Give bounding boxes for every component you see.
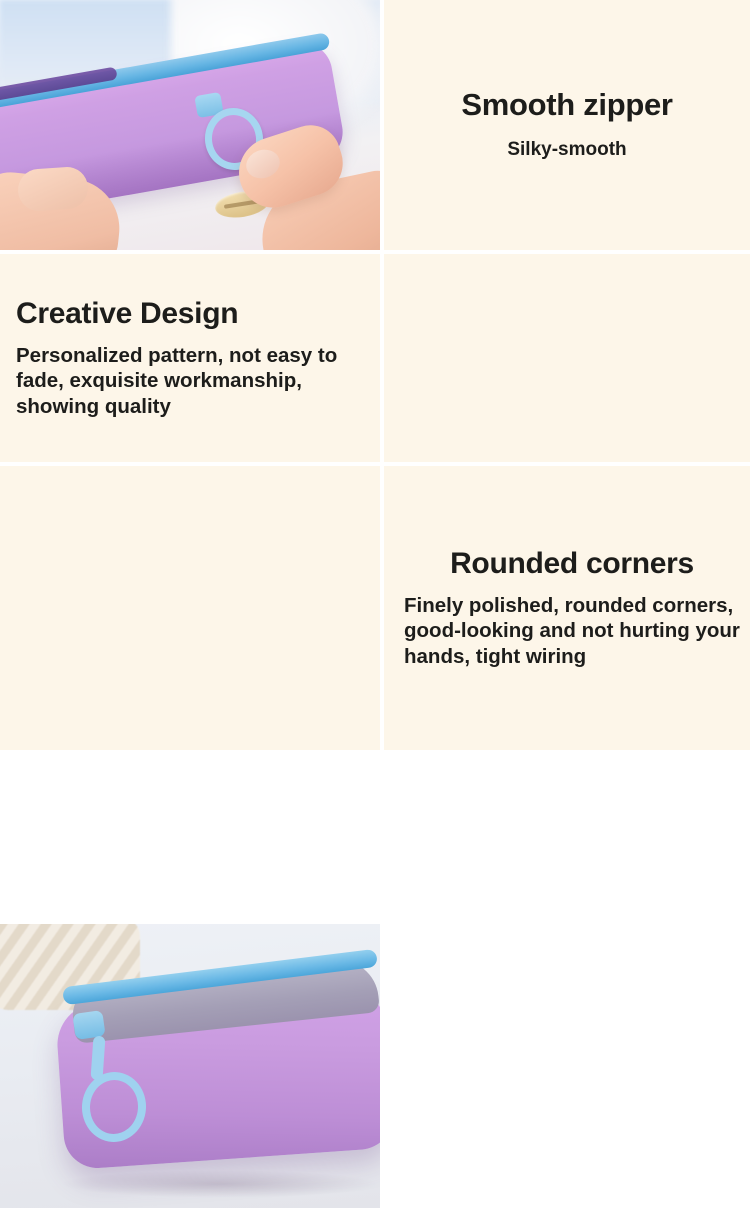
smooth-zipper-headline: Smooth zipper: [461, 88, 672, 122]
divider-horizontal-2: [0, 462, 750, 466]
rounded-corners-panel: Rounded corners Finely polished, rounded…: [384, 466, 750, 750]
creative-design-headline: Creative Design: [16, 297, 238, 330]
rounded-corners-subline: Finely polished, rounded corners, good-l…: [404, 593, 740, 670]
creative-design-panel: Creative Design Personalized pattern, no…: [0, 254, 380, 462]
divider-horizontal-1: [0, 250, 750, 254]
smooth-zipper-subline: Silky-smooth: [507, 138, 626, 162]
rounded-corner-photo: [0, 924, 380, 1208]
zipper-photo: [0, 0, 380, 250]
left-thumb: [17, 166, 90, 213]
divider-vertical: [380, 0, 384, 750]
creative-design-subline: Personalized pattern, not easy to fade, …: [16, 343, 370, 420]
case-drop-shadow: [60, 1170, 380, 1198]
collage-sheet: Smooth zipper Silky-smooth Creative Desi…: [0, 0, 750, 750]
rounded-corners-headline: Rounded corners: [404, 547, 740, 580]
smooth-zipper-panel: Smooth zipper Silky-smooth: [384, 0, 750, 250]
